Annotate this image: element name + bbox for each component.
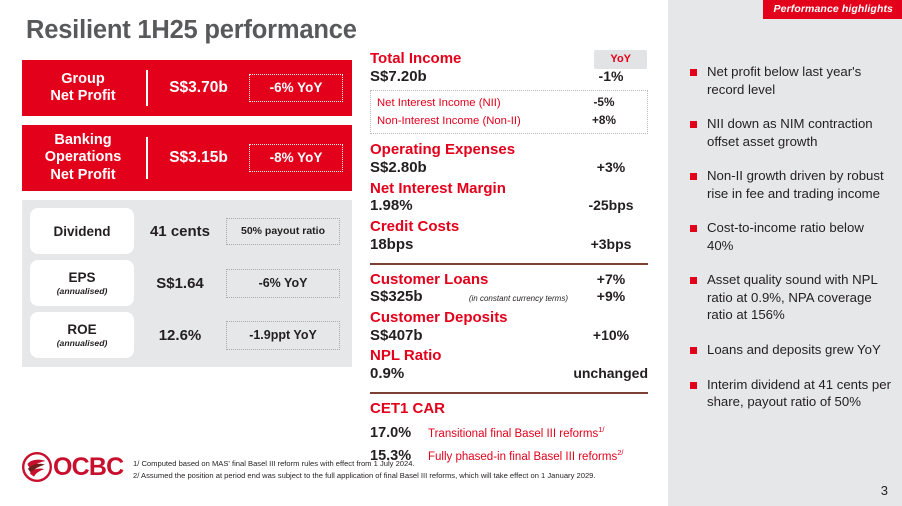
dividend-row: Dividend 41 cents 50% payout ratio	[30, 208, 344, 254]
cet1-car-block: CET1 CAR 17.0% Transitional final Basel …	[370, 400, 648, 464]
cet1-transitional-value: 17.0%	[370, 425, 428, 441]
credit-costs-value: 18bps	[370, 236, 413, 255]
ocbc-wordmark: OCBC	[53, 453, 123, 482]
eps-value: S$1.64	[134, 275, 226, 292]
highlight-text: NII down as NIM contraction offset asset…	[707, 115, 892, 150]
roe-value: 12.6%	[134, 327, 226, 344]
list-item: Cost-to-income ratio below 40%	[690, 219, 892, 254]
customer-deposits-line: S$407b +10%	[370, 327, 648, 346]
customer-loans-block: Customer Loans +7% S$325b (in constant c…	[370, 271, 648, 307]
list-item: Net profit below last year's record leve…	[690, 63, 892, 98]
customer-loans-value-line: S$325b (in constant currency terms) +9%	[370, 288, 648, 307]
dividend-value: 41 cents	[134, 223, 226, 240]
ocbc-logo: OCBC	[22, 452, 123, 482]
highlights-list: Net profit below last year's record leve…	[690, 63, 892, 428]
highlight-text: Asset quality sound with NPL ratio at 0.…	[707, 271, 892, 324]
operating-expenses-block: Operating Expenses S$2.80b +3%	[370, 141, 648, 177]
non-ii-label: Non-Interest Income (Non-II)	[377, 113, 521, 129]
customer-loans-value: S$325b	[370, 288, 423, 307]
operating-expenses-line: S$2.80b +3%	[370, 159, 648, 178]
operating-expenses-change: +3%	[574, 159, 648, 177]
customer-loans-label: Customer Loans	[370, 271, 488, 289]
npl-ratio-change: unchanged	[573, 365, 648, 383]
dividend-label-card: Dividend	[30, 208, 134, 254]
customer-loans-head-line: Customer Loans +7%	[370, 271, 648, 289]
operating-expenses-label: Operating Expenses	[370, 141, 648, 159]
highlight-text: Cost-to-income ratio below 40%	[707, 219, 892, 254]
non-ii-change: +8%	[567, 112, 641, 129]
income-breakdown-box: Net Interest Income (NII) -5% Non-Intere…	[370, 90, 648, 134]
roe-change-badge: -1.9ppt YoY	[226, 321, 340, 350]
performance-highlights-panel: Performance highlights Net profit below …	[668, 0, 902, 506]
group-net-profit-label: GroupNet Profit	[22, 71, 146, 105]
highlight-text: Loans and deposits grew YoY	[707, 341, 881, 359]
performance-highlights-tab: Performance highlights	[763, 0, 902, 19]
footnotes: 1/ Computed based on MAS' final Basel II…	[133, 458, 653, 482]
roe-label-card: ROE (annualised)	[30, 312, 134, 358]
credit-costs-change: +3bps	[574, 236, 648, 254]
nii-label: Net Interest Income (NII)	[377, 95, 501, 111]
list-item: Asset quality sound with NPL ratio at 0.…	[690, 271, 892, 324]
cet1-transitional-desc: Transitional final Basel III reforms1/	[428, 425, 605, 440]
credit-costs-block: Credit Costs 18bps +3bps	[370, 218, 648, 254]
banking-operations-net-profit-card: BankingOperationsNet Profit S$3.15b -8% …	[22, 125, 352, 191]
square-bullet-icon	[690, 277, 697, 284]
cet1-fully-phased-footnote-ref: 2/	[617, 448, 623, 457]
credit-costs-line: 18bps +3bps	[370, 236, 648, 255]
highlight-text: Net profit below last year's record leve…	[707, 63, 892, 98]
section-divider-bottom	[370, 392, 648, 394]
highlight-text: Interim dividend at 41 cents per share, …	[707, 376, 892, 411]
square-bullet-icon	[690, 121, 697, 128]
customer-loans-constant-currency-change: +9%	[574, 288, 648, 306]
npl-ratio-value: 0.9%	[370, 365, 404, 384]
eps-label-card: EPS (annualised)	[30, 260, 134, 306]
dividend-payout-badge: 50% payout ratio	[226, 218, 340, 245]
square-bullet-icon	[690, 173, 697, 180]
roe-label: ROE	[67, 322, 96, 337]
customer-deposits-change: +10%	[574, 327, 648, 345]
group-net-profit-card: GroupNet Profit S$3.70b -6% YoY	[22, 60, 352, 116]
banking-operations-value: S$3.15b	[148, 149, 249, 167]
eps-change-badge: -6% YoY	[226, 269, 340, 298]
cet1-car-label: CET1 CAR	[370, 400, 648, 418]
net-interest-margin-block: Net Interest Margin 1.98% -25bps	[370, 180, 648, 216]
roe-sublabel: (annualised)	[57, 338, 108, 348]
page-number: 3	[881, 483, 888, 498]
non-ii-row: Non-Interest Income (Non-II) +8%	[377, 112, 641, 129]
nii-row: Net Interest Income (NII) -5%	[377, 94, 641, 111]
financials-column: YoY Total Income S$7.20b -1% Net Interes…	[370, 50, 648, 466]
yoy-column-header: YoY	[594, 50, 647, 69]
total-income-line: S$7.20b -1%	[370, 68, 648, 87]
eps-label: EPS	[68, 270, 95, 285]
customer-deposits-label: Customer Deposits	[370, 309, 648, 327]
ocbc-mark-icon	[22, 452, 52, 482]
highlight-text: Non-II growth driven by robust rise in f…	[707, 167, 892, 202]
banking-operations-change: -8% YoY	[249, 144, 343, 172]
cet1-transitional-footnote-ref: 1/	[598, 425, 604, 434]
nii-change: -5%	[567, 94, 641, 111]
group-net-profit-change: -6% YoY	[249, 74, 343, 102]
constant-currency-note: (in constant currency terms)	[469, 294, 568, 304]
dividend-label: Dividend	[53, 224, 110, 239]
square-bullet-icon	[690, 382, 697, 389]
left-metrics-column: GroupNet Profit S$3.70b -6% YoY BankingO…	[22, 60, 352, 367]
banking-operations-label: BankingOperationsNet Profit	[22, 132, 146, 183]
square-bullet-icon	[690, 69, 697, 76]
section-divider-top	[370, 263, 648, 265]
customer-loans-change: +7%	[574, 271, 648, 289]
total-income-block: YoY Total Income S$7.20b -1%	[370, 50, 648, 86]
eps-row: EPS (annualised) S$1.64 -6% YoY	[30, 260, 344, 306]
square-bullet-icon	[690, 225, 697, 232]
square-bullet-icon	[690, 347, 697, 354]
list-item: Non-II growth driven by robust rise in f…	[690, 167, 892, 202]
secondary-metrics-panel: Dividend 41 cents 50% payout ratio EPS (…	[22, 200, 352, 367]
list-item: Interim dividend at 41 cents per share, …	[690, 376, 892, 411]
slide-canvas: Resilient 1H25 performance GroupNet Prof…	[0, 0, 902, 506]
net-interest-margin-label: Net Interest Margin	[370, 180, 648, 198]
page-title: Resilient 1H25 performance	[26, 16, 357, 45]
net-interest-margin-line: 1.98% -25bps	[370, 197, 648, 216]
npl-ratio-block: NPL Ratio 0.9% unchanged	[370, 347, 648, 383]
customer-deposits-value: S$407b	[370, 327, 423, 346]
total-income-change: -1%	[574, 68, 648, 86]
npl-ratio-line: 0.9% unchanged	[370, 365, 648, 384]
group-net-profit-value: S$3.70b	[148, 79, 249, 97]
footnote-2: 2/ Assumed the position at period end wa…	[133, 470, 653, 482]
roe-row: ROE (annualised) 12.6% -1.9ppt YoY	[30, 312, 344, 358]
list-item: NII down as NIM contraction offset asset…	[690, 115, 892, 150]
footnote-1: 1/ Computed based on MAS' final Basel II…	[133, 458, 653, 470]
list-item: Loans and deposits grew YoY	[690, 341, 892, 359]
eps-sublabel: (annualised)	[57, 286, 108, 296]
credit-costs-label: Credit Costs	[370, 218, 648, 236]
customer-deposits-block: Customer Deposits S$407b +10%	[370, 309, 648, 345]
total-income-value: S$7.20b	[370, 68, 427, 87]
cet1-transitional-desc-text: Transitional final Basel III reforms	[428, 428, 598, 440]
npl-ratio-label: NPL Ratio	[370, 347, 648, 365]
operating-expenses-value: S$2.80b	[370, 159, 427, 178]
net-interest-margin-change: -25bps	[574, 197, 648, 215]
net-interest-margin-value: 1.98%	[370, 197, 413, 216]
cet1-transitional-row: 17.0% Transitional final Basel III refor…	[370, 425, 648, 441]
